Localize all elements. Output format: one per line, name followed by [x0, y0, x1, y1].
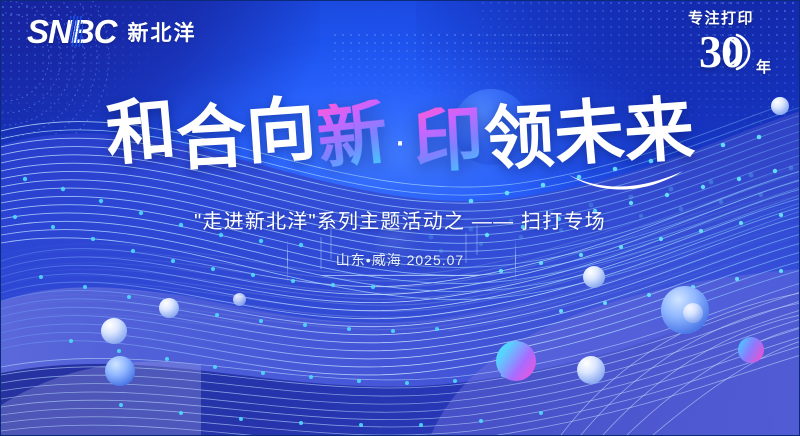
- sphere-center-left: [105, 356, 135, 386]
- event-meta-text: 山东•威海 2025.07: [322, 250, 478, 276]
- sphere-left-mid: [159, 298, 179, 318]
- headline-char-3: 向: [244, 96, 319, 171]
- headline-char-8: 来: [622, 96, 697, 171]
- sphere-left-upper: [101, 318, 127, 344]
- brand-logo[interactable]: SNBC 新北洋: [27, 15, 197, 48]
- headline-brush-stroke-icon: [567, 169, 685, 195]
- badge-tagline: 专注打印: [665, 11, 777, 26]
- sphere-pink-right: [496, 341, 536, 381]
- sphere-low-left: [577, 356, 605, 384]
- sphere-tiny-upper: [233, 293, 246, 306]
- brand-name-cn: 新北洋: [128, 17, 197, 47]
- snbc-wordmark: SNBC: [27, 15, 117, 48]
- headline-char-7: 未: [551, 97, 627, 173]
- sphere-center-sm: [683, 303, 703, 323]
- event-banner: SNBC 新北洋 专注打印 30 年 和 合 向 新 · 印 领 未 来: [0, 0, 800, 436]
- headline-char-4: 新: [314, 99, 391, 176]
- snbc-wordmark-text: SNBC: [27, 13, 117, 50]
- event-meta: 山东•威海 2025.07: [1, 250, 799, 276]
- event-subtitle: "走进新北洋"系列主题活动之 —— 扫打专场: [1, 205, 799, 234]
- sphere-magenta-far: [738, 337, 764, 363]
- badge-number-group: 30 年: [665, 29, 777, 75]
- headline-char-6: 领: [482, 103, 556, 177]
- headline-char-1: 和: [103, 96, 179, 172]
- anniversary-badge: 专注打印 30 年: [665, 11, 777, 75]
- event-headline: 和 合 向 新 · 印 领 未 来: [1, 97, 799, 172]
- headline-char-2: 合: [175, 103, 249, 177]
- headline-separator-dot: ·: [393, 119, 406, 164]
- badge-arc-icon: [713, 31, 757, 73]
- headline-char-5: 印: [412, 105, 486, 179]
- badge-unit: 年: [756, 56, 771, 77]
